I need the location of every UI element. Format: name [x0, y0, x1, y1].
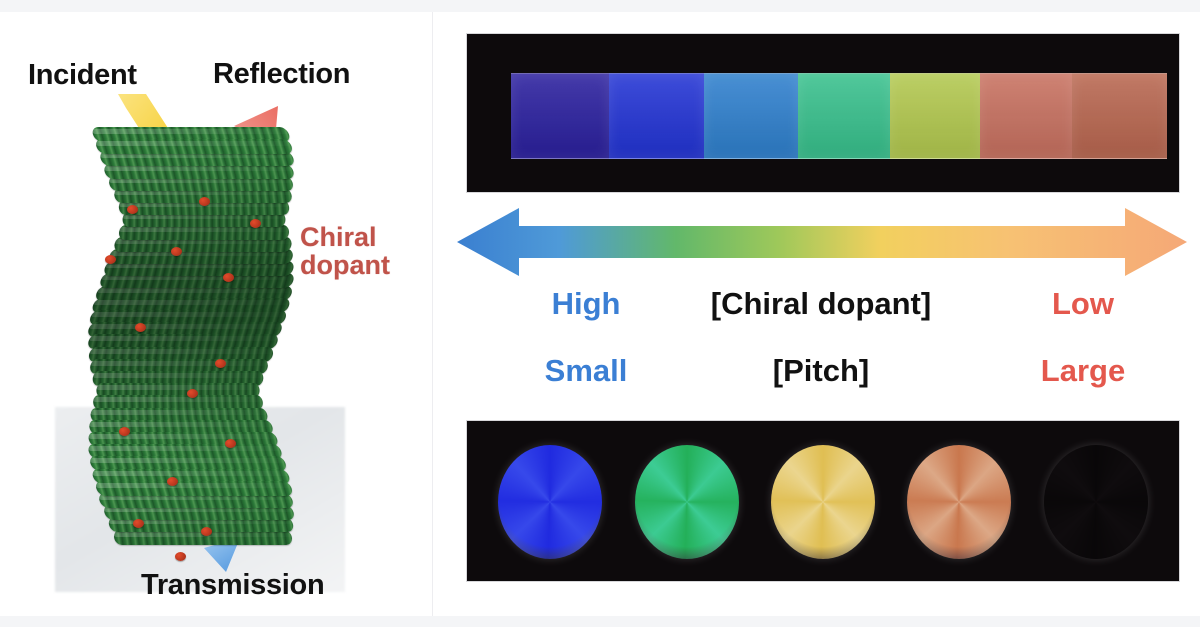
- film-sample: [980, 73, 1072, 159]
- label-chiral-dopant-line2: dopant: [300, 252, 390, 280]
- chiral-dopant-right-label: Low: [993, 286, 1173, 322]
- chiral-dopant-particle: [167, 477, 178, 486]
- label-transmission: Transmission: [141, 569, 324, 602]
- green-disc: [635, 445, 739, 559]
- pink-copper-disc: [1044, 445, 1148, 559]
- chiral-dopant-particle: [175, 552, 186, 561]
- chiral-dopant-particle: [135, 323, 146, 332]
- film-sample: [890, 73, 980, 159]
- helix-layer: [94, 139, 294, 154]
- chiral-dopant-particle: [133, 519, 144, 528]
- graphical-abstract-figure: Incident Reflection Transmission Chiral …: [0, 12, 1200, 616]
- film-sample: [1072, 73, 1167, 159]
- film-sample: [704, 73, 798, 159]
- label-chiral-dopant: Chiral dopant: [300, 224, 390, 280]
- blue-disc: [498, 445, 602, 559]
- pitch-middle-label: [Pitch]: [646, 353, 996, 389]
- gradient-double-arrow-icon: [457, 204, 1187, 280]
- photo-circular-discs: [467, 421, 1179, 581]
- label-incident: Incident: [28, 59, 137, 92]
- chiral-dopant-particle: [119, 427, 130, 436]
- chiral-dopant-particle: [201, 527, 212, 536]
- chiral-dopant-particle: [187, 389, 198, 398]
- chiral-dopant-particle: [250, 219, 261, 228]
- chiral-dopant-middle-label: [Chiral dopant]: [646, 286, 996, 322]
- chiral-dopant-particle: [215, 359, 226, 368]
- chiral-dopant-particle: [225, 439, 236, 448]
- film-sample: [511, 73, 609, 159]
- left-illustration-panel: Incident Reflection Transmission Chiral …: [0, 12, 432, 616]
- label-chiral-dopant-line1: Chiral: [300, 222, 377, 252]
- right-photo-panel: High [Chiral dopant] Low Small [Pitch] L…: [433, 12, 1200, 616]
- film-sample: [609, 73, 704, 159]
- orange-copper-disc: [907, 445, 1011, 559]
- pitch-row: Small [Pitch] Large: [433, 353, 1200, 399]
- chiral-dopant-particle: [127, 205, 138, 214]
- film-sample-row: [511, 73, 1167, 157]
- yellow-disc: [771, 445, 875, 559]
- chiral-dopant-particle: [171, 247, 182, 256]
- helix-layer: [94, 481, 294, 496]
- label-reflection: Reflection: [213, 58, 350, 91]
- pitch-right-label: Large: [993, 353, 1173, 389]
- chiral-dopant-particle: [105, 255, 116, 264]
- disc-sample-row: [482, 443, 1164, 561]
- photo-rectangular-films: [467, 34, 1179, 192]
- chiral-dopant-row: High [Chiral dopant] Low: [433, 286, 1200, 332]
- chiral-dopant-particle: [199, 197, 210, 206]
- film-sample: [798, 73, 890, 159]
- chiral-dopant-particle: [223, 273, 234, 282]
